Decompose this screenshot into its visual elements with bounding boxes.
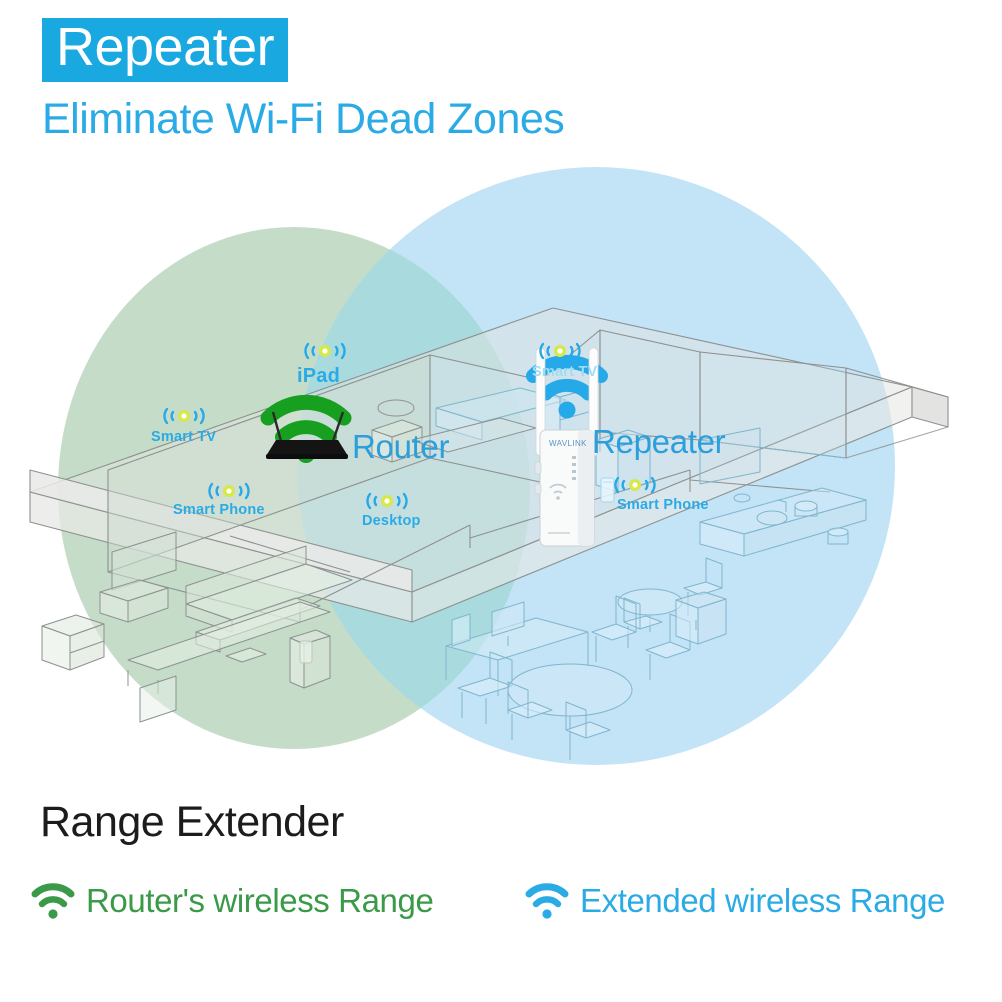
router-base <box>266 454 348 459</box>
section-title: Range Extender <box>40 798 344 847</box>
pc-tower <box>452 614 470 646</box>
tablet-left-silhouette <box>300 641 312 663</box>
smart-phone-left-badge-icon <box>203 478 255 504</box>
smart-phone-right-badge-icon <box>609 472 661 498</box>
sink-basin <box>757 511 787 525</box>
page-title: Repeater <box>56 20 274 74</box>
smart-tv-right-badge-icon <box>534 338 586 364</box>
legend-item-extended-range: Extended wireless Range <box>524 880 945 922</box>
coverage-diagram: WAVLINK <box>0 140 1002 800</box>
wifi-icon <box>30 880 76 922</box>
pot-2-top <box>828 528 848 536</box>
round-table-small <box>618 589 682 615</box>
wall-end-right <box>912 387 948 427</box>
ipad-badge-icon <box>299 338 351 364</box>
cube-front <box>676 600 698 644</box>
legend-label-extended-range: Extended wireless Range <box>580 882 945 920</box>
legend-label-router-range: Router's wireless Range <box>86 882 433 920</box>
legend-item-router-range: Router's wireless Range <box>30 880 433 922</box>
page-subtitle: Eliminate Wi-Fi Dead Zones <box>42 95 564 144</box>
desktop-badge-icon <box>361 488 413 514</box>
repeater-plug-line <box>548 532 570 534</box>
wifi-icon <box>524 880 570 922</box>
repeater-brand: WAVLINK <box>549 439 587 448</box>
page-title-badge: Repeater <box>42 18 288 82</box>
router-body <box>266 440 348 456</box>
smart-tv-left-badge-icon <box>158 403 210 429</box>
poster-canvas: Repeater Eliminate Wi-Fi Dead Zones <box>0 0 1002 1002</box>
diagram-svg: WAVLINK <box>0 140 1002 800</box>
pot-1-top <box>795 501 817 511</box>
